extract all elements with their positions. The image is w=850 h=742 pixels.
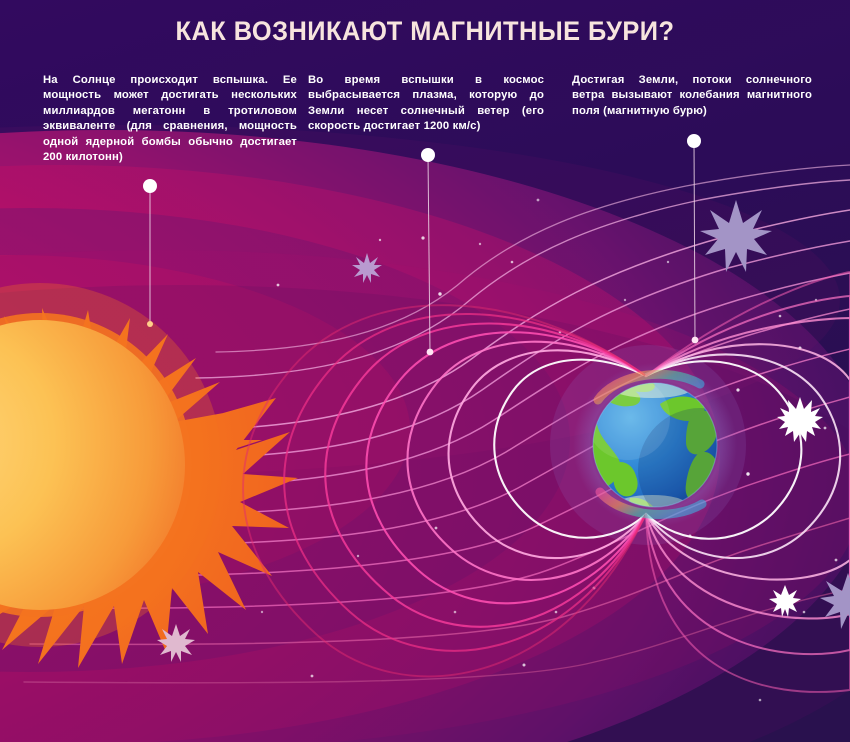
infographic-canvas: КАК ВОЗНИКАЮТ МАГНИТНЫЕ БУРИ? На Солнце … (0, 0, 850, 742)
text-overlay: КАК ВОЗНИКАЮТ МАГНИТНЫЕ БУРИ? На Солнце … (0, 0, 850, 742)
page-title: КАК ВОЗНИКАЮТ МАГНИТНЫЕ БУРИ? (26, 16, 825, 47)
note-plasma-ejection: Во время вспышки в космос выбрасывается … (308, 73, 544, 135)
note-magnetic-storm: Достигая Земли, потоки солнечного ветра … (572, 73, 812, 119)
note-solar-flare: На Солнце происходит вспышка. Ее мощност… (43, 73, 297, 165)
